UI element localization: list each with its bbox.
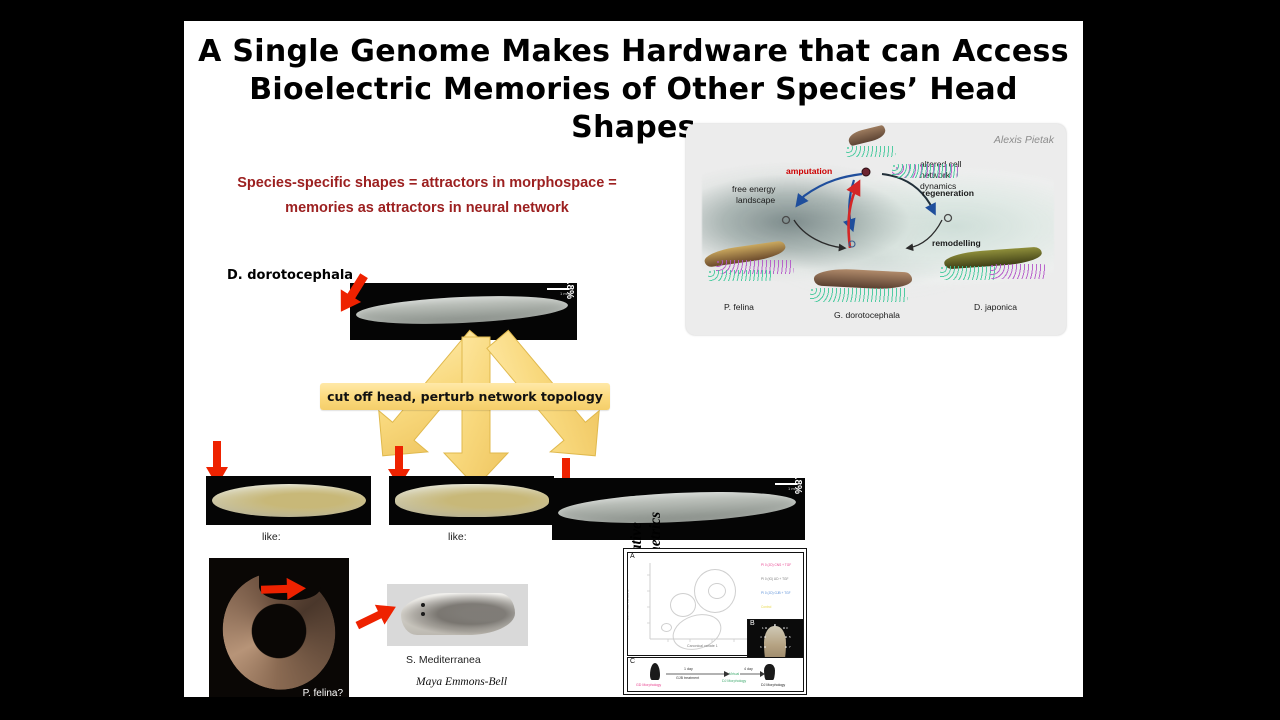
worm-body bbox=[212, 484, 366, 517]
caption-p-felina: P. felina? bbox=[303, 688, 343, 697]
morph-legend-item-2: PI 0 (JD) GJB + TGF bbox=[761, 591, 791, 595]
morph-legend-item-3: Control bbox=[761, 605, 771, 609]
worm-body bbox=[557, 488, 796, 528]
morphometrics-figure: A Canonical variate 1 Canonical variate … bbox=[623, 548, 807, 695]
photo-outcome-left bbox=[206, 476, 371, 525]
morph-y-axis-label: Canonical variate 2 bbox=[627, 590, 629, 621]
svg-text:4: 4 bbox=[760, 635, 762, 639]
landscape-label-regeneration: regeneration bbox=[922, 188, 974, 199]
morph-legend-item-1: PI 0 (IG) UD + TGF bbox=[761, 577, 788, 581]
presentation-slide: A Single Genome Makes Hardware that can … bbox=[184, 21, 1083, 697]
worm-body bbox=[395, 484, 549, 517]
worm-body bbox=[356, 292, 569, 328]
credit-maya-emmons-bell: Maya Emmons-Bell bbox=[416, 676, 507, 688]
landscape-label-freeenergy-1: free energy bbox=[732, 184, 775, 195]
landscape-credit: Alexis Pietak bbox=[994, 134, 1054, 146]
svg-text:7: 7 bbox=[789, 645, 791, 649]
morph-flow-step1-top: 1 day bbox=[684, 667, 693, 671]
landscape-species-p-felina: P. felina bbox=[724, 302, 754, 312]
statement-line-1: Species-specific shapes = attractors in … bbox=[209, 171, 645, 196]
morph-flow-step2-top: 4 day bbox=[744, 667, 753, 671]
statement-text: Species-specific shapes = attractors in … bbox=[209, 171, 645, 221]
worm-body bbox=[401, 593, 515, 635]
morph-ellipse-5 bbox=[661, 623, 672, 632]
svg-text:5: 5 bbox=[789, 635, 791, 639]
free-energy-landscape-figure: amputation altered cell network dynamics… bbox=[686, 124, 1066, 335]
morph-flow-middle-label-1: Virtual bbox=[729, 672, 739, 676]
morph-flow-start-label: GD Morphology bbox=[636, 683, 661, 687]
photo-outcome-right: 1 mm 7.8% bbox=[552, 478, 805, 540]
landscape-speck-d-japonica-green bbox=[940, 266, 996, 280]
banner-cut-off-head: cut off head, perturb network topology bbox=[320, 383, 610, 410]
landscape-label-remodelling: remodelling bbox=[932, 238, 981, 249]
photo-source-worm: 1 mm 7.8% bbox=[350, 283, 577, 340]
landscape-speck-g-dorotocephala bbox=[810, 288, 908, 302]
svg-text:3: 3 bbox=[786, 626, 788, 630]
worm-eye-right bbox=[421, 612, 425, 616]
landscape-label-freeenergy-2: landscape bbox=[736, 195, 775, 206]
landscape-speck-p-felina-green bbox=[708, 270, 772, 281]
yellow-arrow-right bbox=[474, 337, 694, 497]
svg-text:1: 1 bbox=[762, 626, 764, 630]
morph-panel-c: C 1 day GJB treatment 4 day GD Morpholog… bbox=[627, 657, 804, 692]
caption-like-center: like: bbox=[448, 531, 467, 543]
red-arrow-p-felina bbox=[261, 576, 308, 602]
morph-ellipse-3 bbox=[670, 593, 696, 617]
svg-text:6: 6 bbox=[760, 645, 762, 649]
worm-eye-left bbox=[421, 603, 425, 607]
landscape-speck-top bbox=[846, 146, 896, 157]
caption-s-mediterranea: S. Mediterranea bbox=[406, 654, 481, 666]
percent-label: 7.8% bbox=[564, 283, 575, 299]
landscape-species-g-dorotocephala: G. dorotocephala bbox=[834, 310, 900, 320]
percent-label: 7.8% bbox=[792, 478, 803, 494]
title-line-1: A Single Genome Makes Hardware that can … bbox=[184, 33, 1083, 71]
landscape-species-d-japonica: D. japonica bbox=[974, 302, 1017, 312]
morph-flow-middle-label-2: DJ Morphology bbox=[722, 679, 746, 683]
landscape-speck-d-japonica-purple bbox=[990, 264, 1046, 279]
morph-ellipse-2 bbox=[708, 583, 726, 599]
source-species-label: D. dorotocephala bbox=[227, 268, 353, 283]
landscape-label-amputation: amputation bbox=[786, 166, 832, 177]
landscape-speck-altered bbox=[892, 164, 958, 178]
statement-line-2: memories as attractors in neural network bbox=[209, 196, 645, 221]
morph-legend-item-0: PI 0 (JD) CNS + TGF bbox=[761, 563, 791, 567]
photo-s-mediterranea bbox=[387, 584, 528, 646]
morph-x-axis-label: Canonical variate 1 bbox=[687, 644, 718, 648]
morph-flow-end-label: DJ Morphology bbox=[761, 683, 785, 687]
caption-like-left: like: bbox=[262, 531, 281, 543]
morph-flow-step1-bottom: GJB treatment bbox=[676, 676, 699, 680]
photo-outcome-center bbox=[389, 476, 554, 525]
